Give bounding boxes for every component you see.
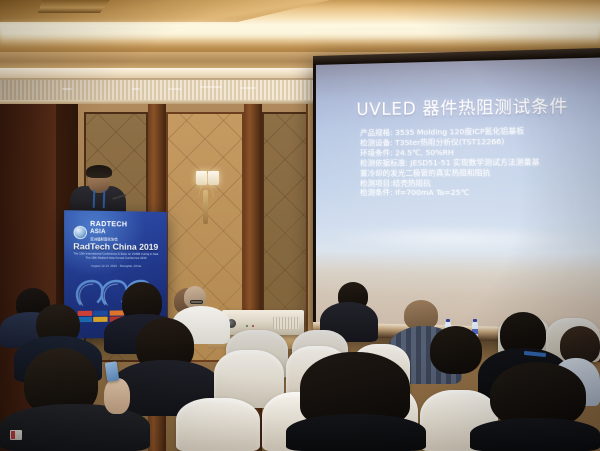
ceiling-vent bbox=[240, 87, 256, 89]
cove-lighting-glow bbox=[0, 20, 600, 46]
audience-shoulders-foreground bbox=[0, 404, 150, 451]
slide-line: 检测依据标准: JESD51-51 实现数学测试方法测量基 bbox=[360, 157, 593, 168]
audience-shoulders bbox=[470, 418, 600, 451]
bottle-cap bbox=[473, 319, 477, 322]
conference-room-photo: UVLED 器件热阻测试条件 产品规格: 3535 Molding 120度IC… bbox=[0, 0, 600, 451]
ceiling-vent bbox=[200, 86, 222, 88]
event-subtitle-line2: The 18th Radtech Asia Annual Conference … bbox=[86, 255, 147, 259]
smartphone[interactable] bbox=[105, 361, 120, 381]
ceiling-vent bbox=[168, 88, 182, 90]
projector-status-led bbox=[246, 325, 248, 327]
speaker-lanyard bbox=[93, 190, 106, 208]
badge-stripe bbox=[11, 431, 15, 439]
projector-status-led bbox=[252, 325, 254, 327]
projector-vents bbox=[273, 317, 299, 329]
sunglasses-icon bbox=[190, 300, 203, 304]
event-subtitle: The 15th International Conference & Expo… bbox=[68, 252, 163, 260]
ceiling-vent bbox=[132, 88, 140, 90]
sponsor-chip bbox=[77, 310, 92, 315]
sconce-lamp-shade bbox=[196, 171, 207, 185]
bottle-cap bbox=[446, 319, 450, 322]
globe-icon bbox=[74, 225, 88, 238]
slide-line: 检测条件: If=700mA Ta=25℃ bbox=[360, 188, 593, 198]
chair bbox=[176, 398, 260, 451]
event-title: RadTech China 2019 bbox=[64, 241, 167, 252]
sconce-backplate bbox=[203, 190, 208, 224]
sponsor-chip bbox=[93, 310, 107, 315]
speaker-hair bbox=[86, 165, 112, 178]
audience-head-grey bbox=[184, 286, 206, 308]
slide-line: 检测项目:结壳热阻抗 bbox=[360, 178, 593, 188]
sponsor-chip bbox=[93, 317, 107, 322]
hand bbox=[104, 378, 130, 414]
sconce-lamp-shade bbox=[208, 171, 219, 185]
sponsor-chip bbox=[109, 310, 123, 315]
ceiling-vent bbox=[62, 88, 72, 90]
slide-line: 置冷却的发光二极管的真实热阻和阻抗 bbox=[360, 167, 593, 178]
audience-head bbox=[430, 326, 482, 374]
audience-shoulders bbox=[286, 414, 426, 451]
slide-body-text: 产品规格: 3535 Molding 120度ICP氮化铝基板 检测设备: T3… bbox=[360, 125, 593, 198]
event-dates: August 12-14, 2019 · Shanghai, China bbox=[68, 264, 163, 268]
logo-main: RADTECH bbox=[90, 221, 127, 229]
slide-title: UVLED 器件热阻测试条件 bbox=[316, 91, 600, 121]
screen-light-sheen bbox=[327, 224, 587, 253]
chandelier-fixture bbox=[38, 0, 110, 13]
